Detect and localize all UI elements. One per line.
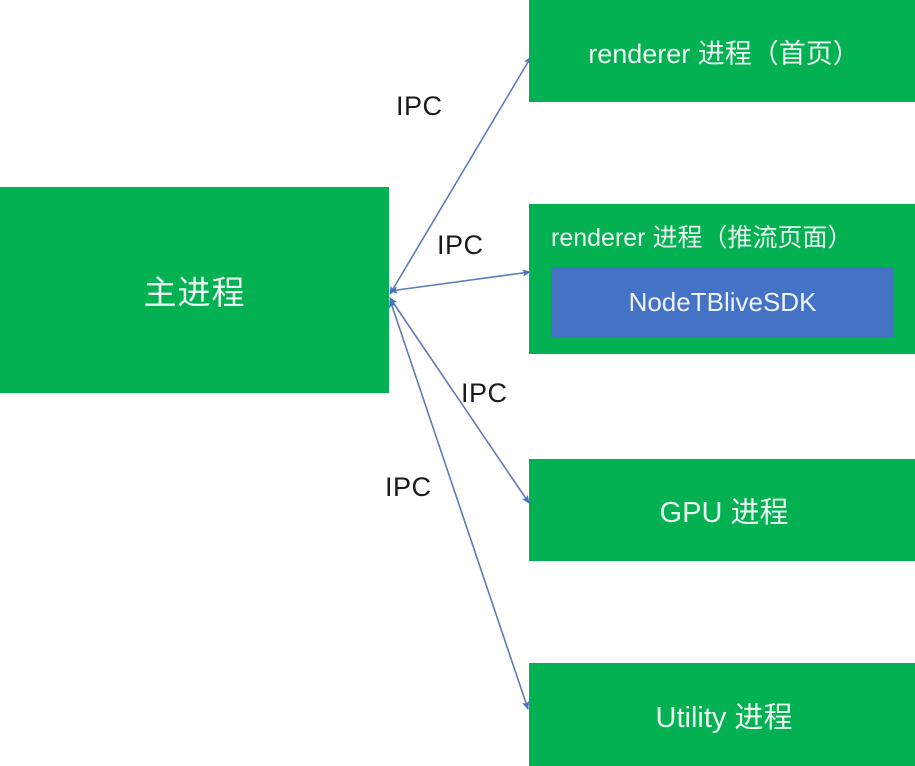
- edge-label-ipc-renderer-home: IPC: [396, 91, 443, 122]
- process-box-utility[interactable]: Utility 进程: [529, 663, 915, 766]
- process-label-main: 主进程: [144, 266, 246, 314]
- edge-label-ipc-renderer-push: IPC: [437, 230, 484, 261]
- process-label-renderer-home: renderer 进程（首页）: [588, 32, 860, 71]
- edge-main-to-utility: [390, 300, 528, 709]
- sdk-label-node-tblive-sdk: NodeTBliveSDK: [629, 287, 817, 318]
- edge-label-ipc-utility: IPC: [385, 472, 432, 503]
- diagram-canvas: 主进程 renderer 进程（首页） renderer 进程（推流页面） No…: [0, 0, 915, 766]
- edge-main-to-renderer-push: [390, 272, 530, 291]
- process-label-renderer-push: renderer 进程（推流页面）: [551, 218, 852, 254]
- process-label-gpu: GPU 进程: [660, 489, 789, 531]
- process-box-gpu[interactable]: GPU 进程: [529, 459, 915, 561]
- process-label-utility: Utility 进程: [656, 694, 793, 736]
- process-box-renderer-push[interactable]: renderer 进程（推流页面） NodeTBliveSDK: [529, 204, 915, 354]
- edge-label-ipc-gpu: IPC: [461, 378, 508, 409]
- process-box-main[interactable]: 主进程: [0, 187, 389, 393]
- sdk-box-node-tblive-sdk[interactable]: NodeTBliveSDK: [551, 267, 894, 337]
- process-box-renderer-home[interactable]: renderer 进程（首页）: [529, 0, 915, 102]
